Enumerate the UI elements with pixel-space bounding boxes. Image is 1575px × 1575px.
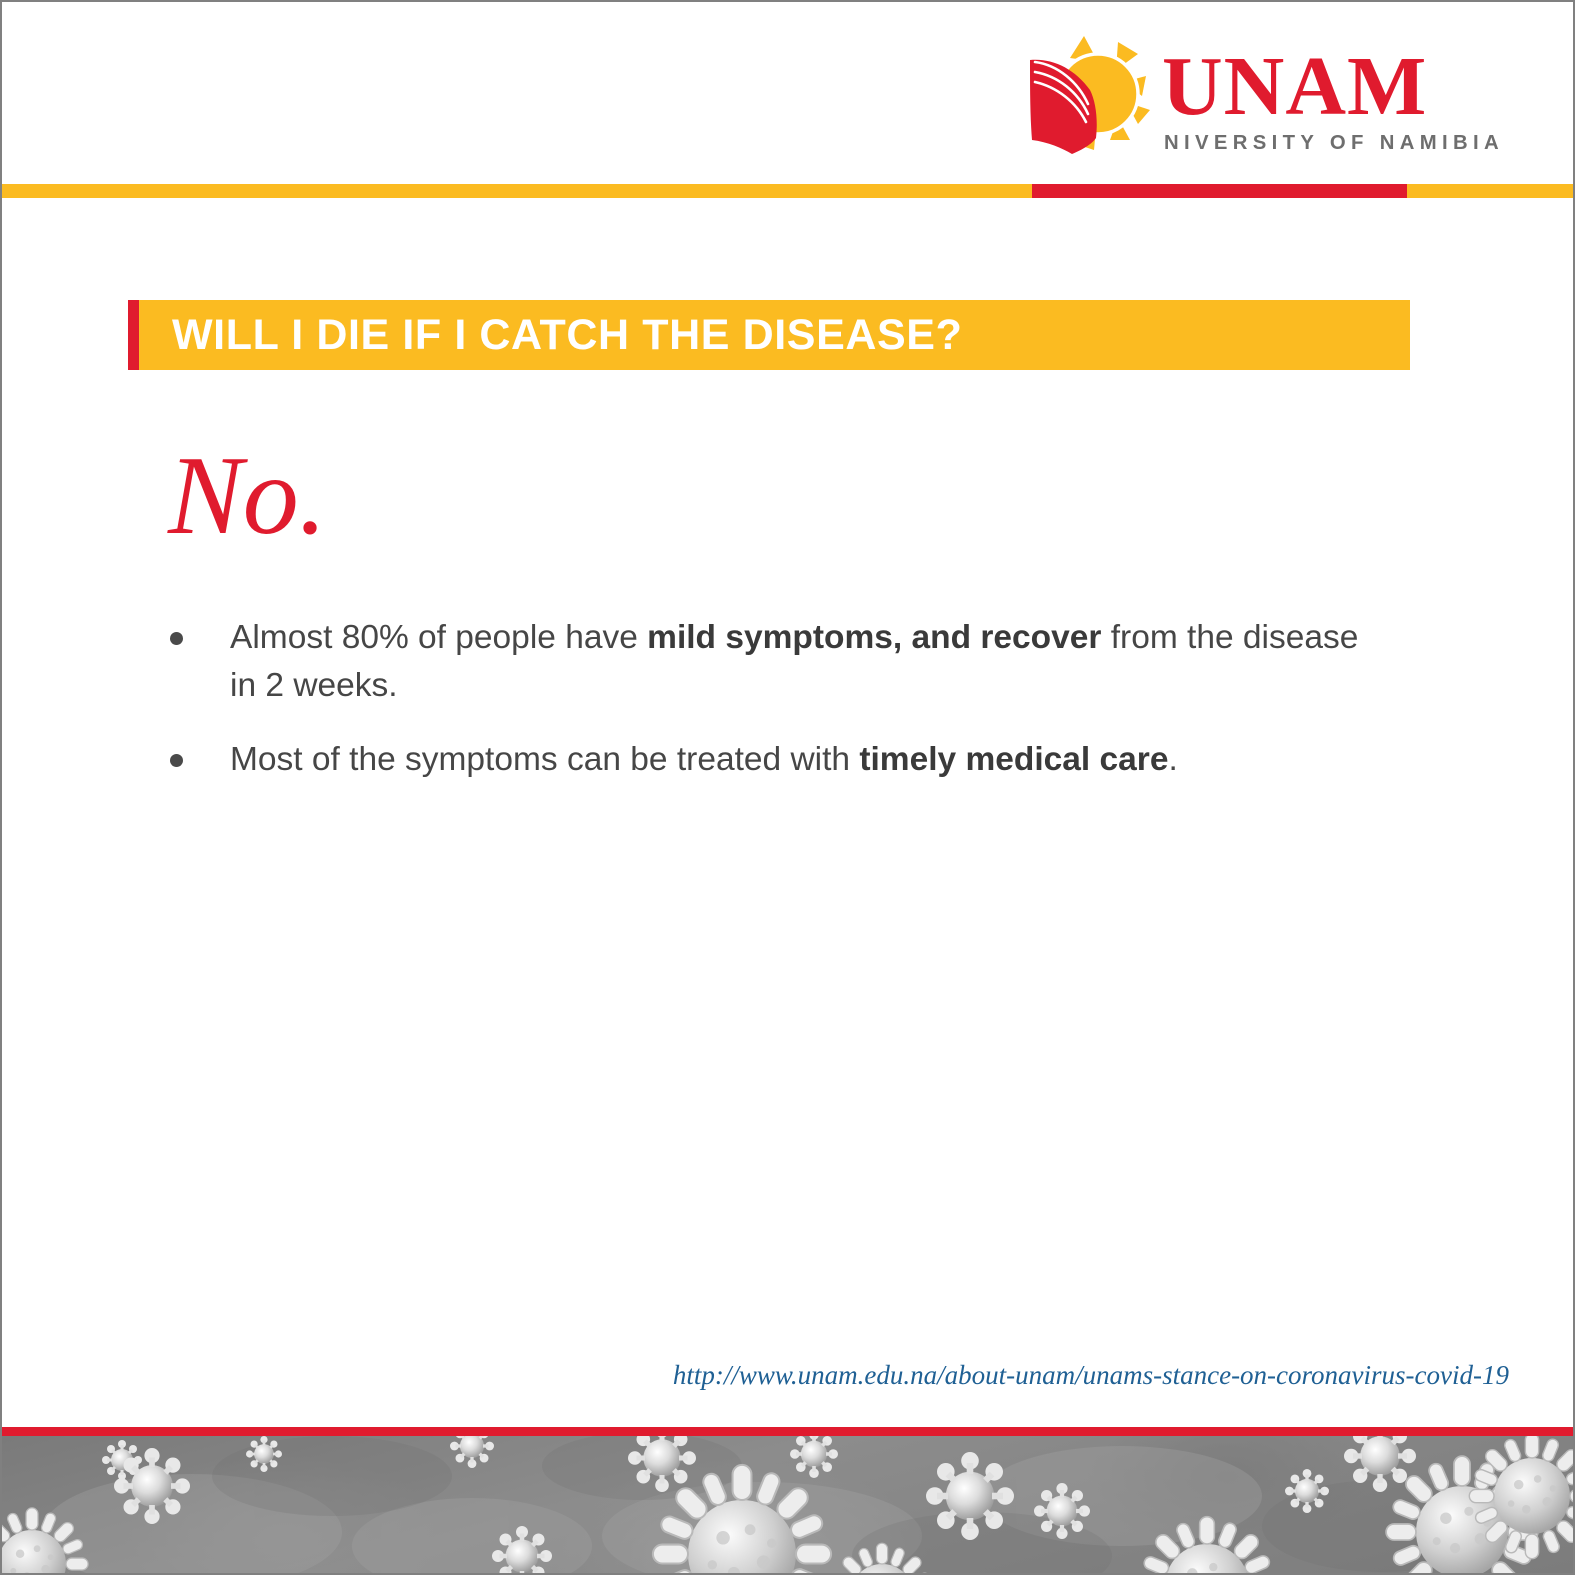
bullet-text: Most of the symptoms can be treated with… xyxy=(230,736,1370,784)
bullet-dot-icon xyxy=(170,632,183,645)
header-rule-red xyxy=(1032,184,1407,198)
title-bar-red-accent xyxy=(128,300,139,370)
slide-canvas: UNAM NIVERSITY OF NAMIBIA WILL I DIE IF … xyxy=(0,0,1575,1575)
unam-wordmark: UNAM NIVERSITY OF NAMIBIA xyxy=(1162,48,1422,155)
bullet-list: Almost 80% of people have mild symptoms,… xyxy=(170,614,1370,811)
unam-tagline: NIVERSITY OF NAMIBIA xyxy=(1164,131,1419,155)
unam-book-sun-logo-icon xyxy=(1022,32,1162,162)
list-item: Most of the symptoms can be treated with… xyxy=(170,736,1370,784)
unam-logo: UNAM NIVERSITY OF NAMIBIA xyxy=(1022,30,1422,165)
bullet-dot-icon xyxy=(170,754,183,767)
list-item: Almost 80% of people have mild symptoms,… xyxy=(170,614,1370,710)
bullet-text: Almost 80% of people have mild symptoms,… xyxy=(230,614,1370,710)
page-title: WILL I DIE IF I CATCH THE DISEASE? xyxy=(172,300,962,370)
footer-rule-red xyxy=(2,1427,1573,1436)
coronavirus-image-band xyxy=(2,1436,1573,1573)
answer-heading: No. xyxy=(168,440,327,552)
unam-wordmark-text: UNAM xyxy=(1162,48,1422,125)
source-url-link[interactable]: http://www.unam.edu.na/about-unam/unams-… xyxy=(2,1360,1509,1391)
